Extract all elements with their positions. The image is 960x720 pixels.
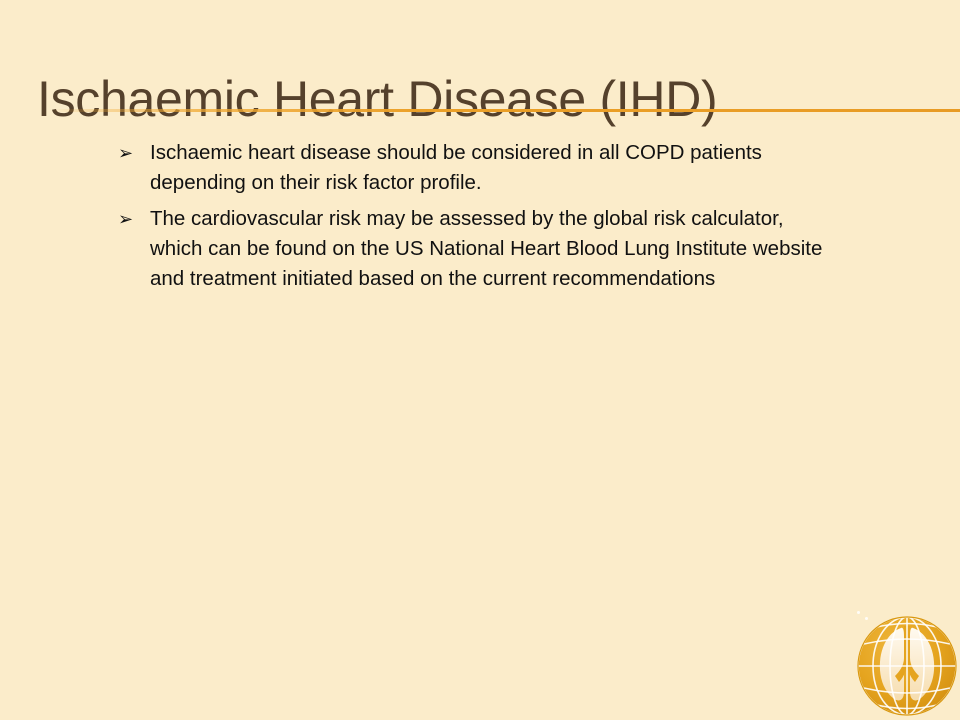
arrow-bullet-icon: ➢	[118, 138, 142, 168]
list-item: ➢ Ischaemic heart disease should be cons…	[118, 138, 858, 198]
bullet-text: The cardiovascular risk may be assessed …	[150, 204, 840, 294]
title-divider-rule	[0, 109, 960, 112]
bullet-list: ➢ Ischaemic heart disease should be cons…	[118, 138, 858, 300]
gold-globe-lung-logo	[855, 614, 959, 718]
list-item: ➢ The cardiovascular risk may be assesse…	[118, 204, 858, 294]
bullet-text: Ischaemic heart disease should be consid…	[150, 138, 790, 198]
arrow-bullet-icon: ➢	[118, 204, 142, 234]
page-title: Ischaemic Heart Disease (IHD)	[37, 70, 927, 128]
slide-canvas: Ischaemic Heart Disease (IHD) ➢ Ischaemi…	[0, 0, 960, 720]
